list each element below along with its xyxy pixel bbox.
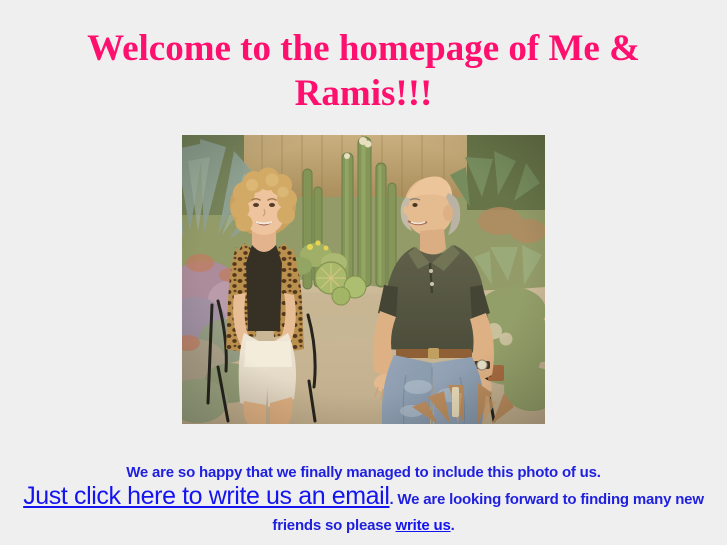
caption-line-1: We are so happy that we finally managed … xyxy=(8,462,719,483)
photo-container xyxy=(0,135,727,429)
caption-line-2: Just click here to write us an email. We… xyxy=(8,483,719,539)
caption-block: We are so happy that we finally managed … xyxy=(0,462,727,539)
caption-period: . xyxy=(451,517,455,534)
write-us-link[interactable]: write us xyxy=(396,517,451,534)
write-email-link[interactable]: Just click here to write us an email xyxy=(23,482,389,510)
couple-photo xyxy=(182,135,545,424)
page-title: Welcome to the homepage of Me & Ramis!!! xyxy=(0,0,727,116)
